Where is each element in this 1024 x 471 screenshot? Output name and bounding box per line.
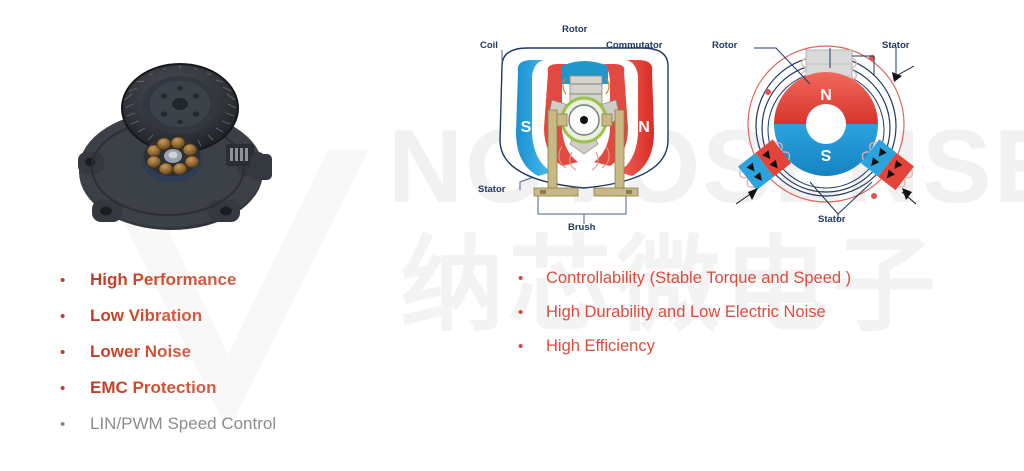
label-stator-bottom: Stator: [818, 214, 845, 225]
feature-label-controllability: Controllability (Stable Torque and Speed…: [546, 268, 851, 288]
label-brush: Brush: [568, 222, 595, 233]
svg-text:S: S: [521, 119, 532, 136]
feature-label-lower-noise: Lower Noise: [90, 342, 191, 362]
bldc-motor-graphic: N S: [706, 14, 946, 242]
product-photo: [68, 48, 278, 238]
label-commutator: Commutator: [606, 40, 662, 51]
brushed-motor-graphic: S N: [466, 14, 706, 242]
label-coil: Coil: [480, 40, 498, 51]
blower-motor-illustration: [68, 48, 278, 238]
feature-label-emc-protection: EMC Protection: [90, 378, 217, 398]
svg-text:S: S: [820, 146, 831, 163]
brushless-dc-motor-cross-section: N S: [706, 14, 946, 242]
left-feature-list: • High Performance • Low Vibration • Low…: [60, 270, 390, 450]
right-feature-list: • Controllability (Stable Torque and Spe…: [518, 268, 938, 370]
feature-label-high-performance: High Performance: [90, 270, 236, 290]
list-item: • High Durability and Low Electric Noise: [518, 302, 938, 322]
feature-label-low-vibration: Low Vibration: [90, 306, 202, 326]
label-stator-top: Stator: [882, 40, 909, 51]
feature-label-high-efficiency: High Efficiency: [546, 336, 655, 356]
bullet-glyph: •: [518, 271, 528, 286]
list-item: • High Efficiency: [518, 336, 938, 356]
list-item: • High Performance: [60, 270, 390, 290]
svg-text:N: N: [638, 119, 650, 136]
list-item: • Lower Noise: [60, 342, 390, 362]
bullet-glyph: •: [60, 381, 70, 396]
bullet-glyph: •: [60, 273, 70, 288]
bullet-glyph: •: [60, 345, 70, 360]
bullet-glyph: •: [60, 417, 70, 432]
label-stator: Stator: [478, 184, 505, 195]
svg-text:N: N: [820, 87, 832, 104]
slide-canvas: NOVOSENSE 纳芯微电子: [0, 0, 1024, 471]
bullet-glyph: •: [60, 309, 70, 324]
bullet-glyph: •: [518, 339, 528, 354]
feature-label-lin-pwm-speed-control: LIN/PWM Speed Control: [90, 414, 276, 434]
list-item: • Controllability (Stable Torque and Spe…: [518, 268, 938, 288]
list-item: • LIN/PWM Speed Control: [60, 414, 390, 434]
bullet-glyph: •: [518, 305, 528, 320]
label-rotor: Rotor: [712, 40, 737, 51]
feature-label-high-durability: High Durability and Low Electric Noise: [546, 302, 826, 322]
list-item: • Low Vibration: [60, 306, 390, 326]
label-rotor: Rotor: [562, 24, 587, 35]
list-item: • EMC Protection: [60, 378, 390, 398]
brushed-dc-motor-cutaway: S N: [466, 14, 706, 242]
